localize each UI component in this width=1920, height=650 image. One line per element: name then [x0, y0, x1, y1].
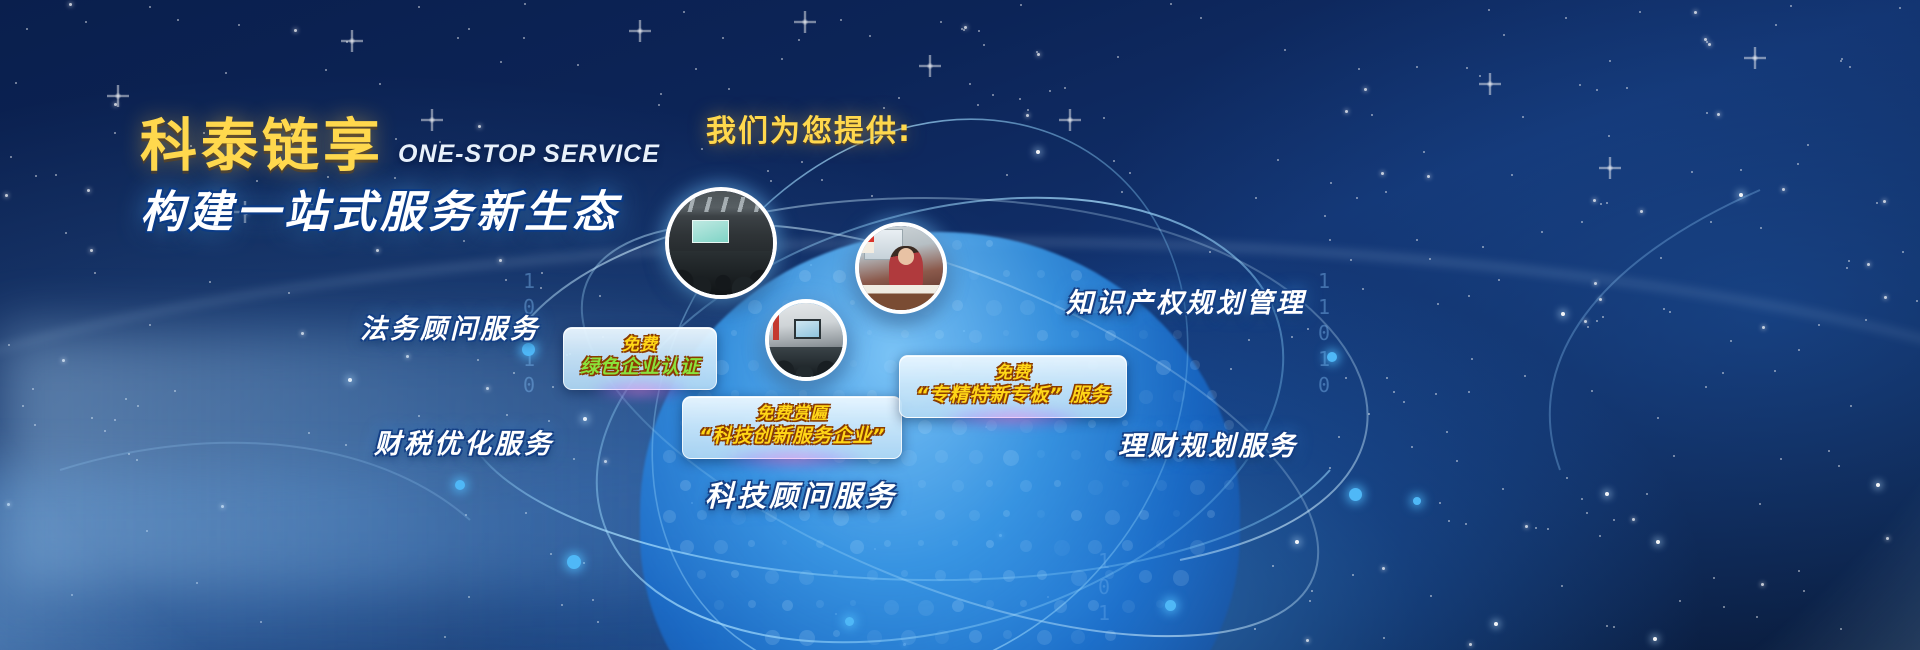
- node-dot: [845, 617, 854, 626]
- service-label-ip-planning[interactable]: 知识产权规划管理: [1066, 281, 1306, 320]
- node-dot: [1165, 600, 1176, 611]
- badge-specialized-new-board-service[interactable]: 免费 “专精特新专板” 服务: [899, 355, 1127, 418]
- headline-block: 科泰链享 ONE-STOP SERVICE 构建一站式服务新生态: [140, 118, 660, 237]
- node-dot: [1349, 488, 1362, 501]
- badge-line2: 绿色企业认证: [580, 356, 700, 380]
- badge-green-enterprise-certification[interactable]: 免费 绿色企业认证: [563, 327, 717, 390]
- service-label-tech-advisory[interactable]: 科技顾问服务: [705, 473, 897, 515]
- badge-line2: “科技创新服务企业”: [699, 425, 885, 449]
- binary-decor-right: 11010: [1318, 268, 1331, 398]
- badge-line1: 免费: [580, 335, 700, 356]
- service-label-wealth-planning[interactable]: 理财规划服务: [1118, 424, 1298, 463]
- badge-line2: “专精特新专板” 服务: [916, 384, 1110, 408]
- node-dot: [1327, 352, 1337, 362]
- service-label-legal-advisory[interactable]: 法务顾问服务: [360, 307, 540, 346]
- tagline: 构建一站式服务新生态: [140, 189, 660, 237]
- node-dot: [1413, 497, 1421, 505]
- badge-free-plaque[interactable]: 免费赏匾 “科技创新服务企业”: [682, 396, 902, 459]
- badge-line1: 免费赏匾: [699, 404, 885, 425]
- binary-decor-bottom: 101: [1098, 548, 1111, 626]
- provide-heading: 我们为您提供:: [706, 106, 912, 150]
- meeting-room-photo: [765, 299, 847, 381]
- badge-line1: 免费: [916, 363, 1110, 384]
- brand-subtitle-en: ONE-STOP SERVICE: [398, 140, 660, 175]
- service-label-tax-optimization[interactable]: 财税优化服务: [374, 422, 554, 461]
- node-dot: [567, 555, 581, 569]
- orbit-network-lines: [0, 0, 1920, 650]
- consultant-desk-photo: [855, 222, 947, 314]
- seminar-audience-photo: [665, 187, 777, 299]
- brand-title: 科泰链享: [140, 118, 384, 175]
- hero-banner: 10110 11010 101 科泰链享 ONE-STOP SERVICE 构建…: [0, 0, 1920, 650]
- node-dot: [455, 480, 465, 490]
